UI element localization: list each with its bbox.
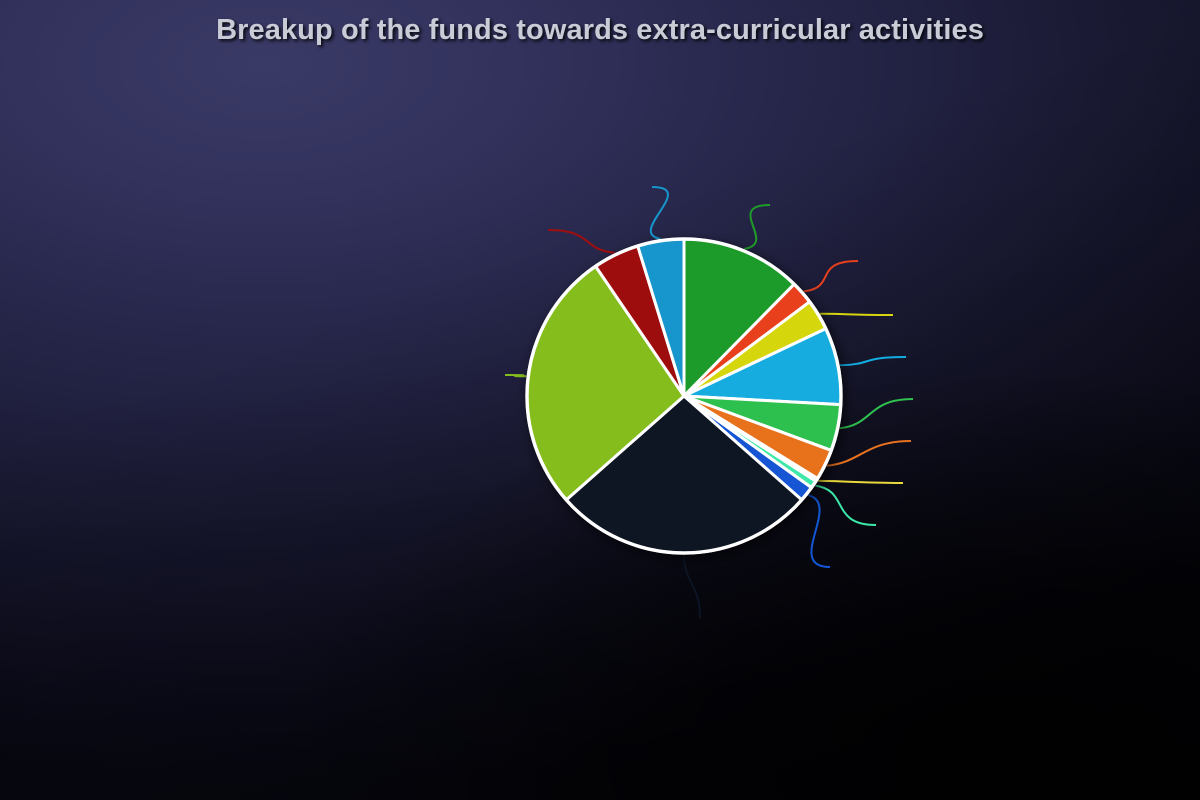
leader-line xyxy=(548,230,615,253)
leader-line xyxy=(820,314,893,315)
leader-line xyxy=(827,441,911,466)
leader-line xyxy=(840,399,913,428)
chart-canvas: Breakup of the funds towards extra-curri… xyxy=(0,0,1200,800)
leader-line xyxy=(818,481,903,483)
leader-line xyxy=(808,495,830,567)
leader-line xyxy=(815,486,876,525)
leader-line xyxy=(744,205,770,249)
leader-line xyxy=(684,555,700,618)
leader-line xyxy=(505,375,526,376)
leader-line xyxy=(651,187,668,239)
leader-line xyxy=(804,261,858,291)
pie-chart-graphic xyxy=(0,33,1200,800)
leader-line xyxy=(840,357,906,365)
